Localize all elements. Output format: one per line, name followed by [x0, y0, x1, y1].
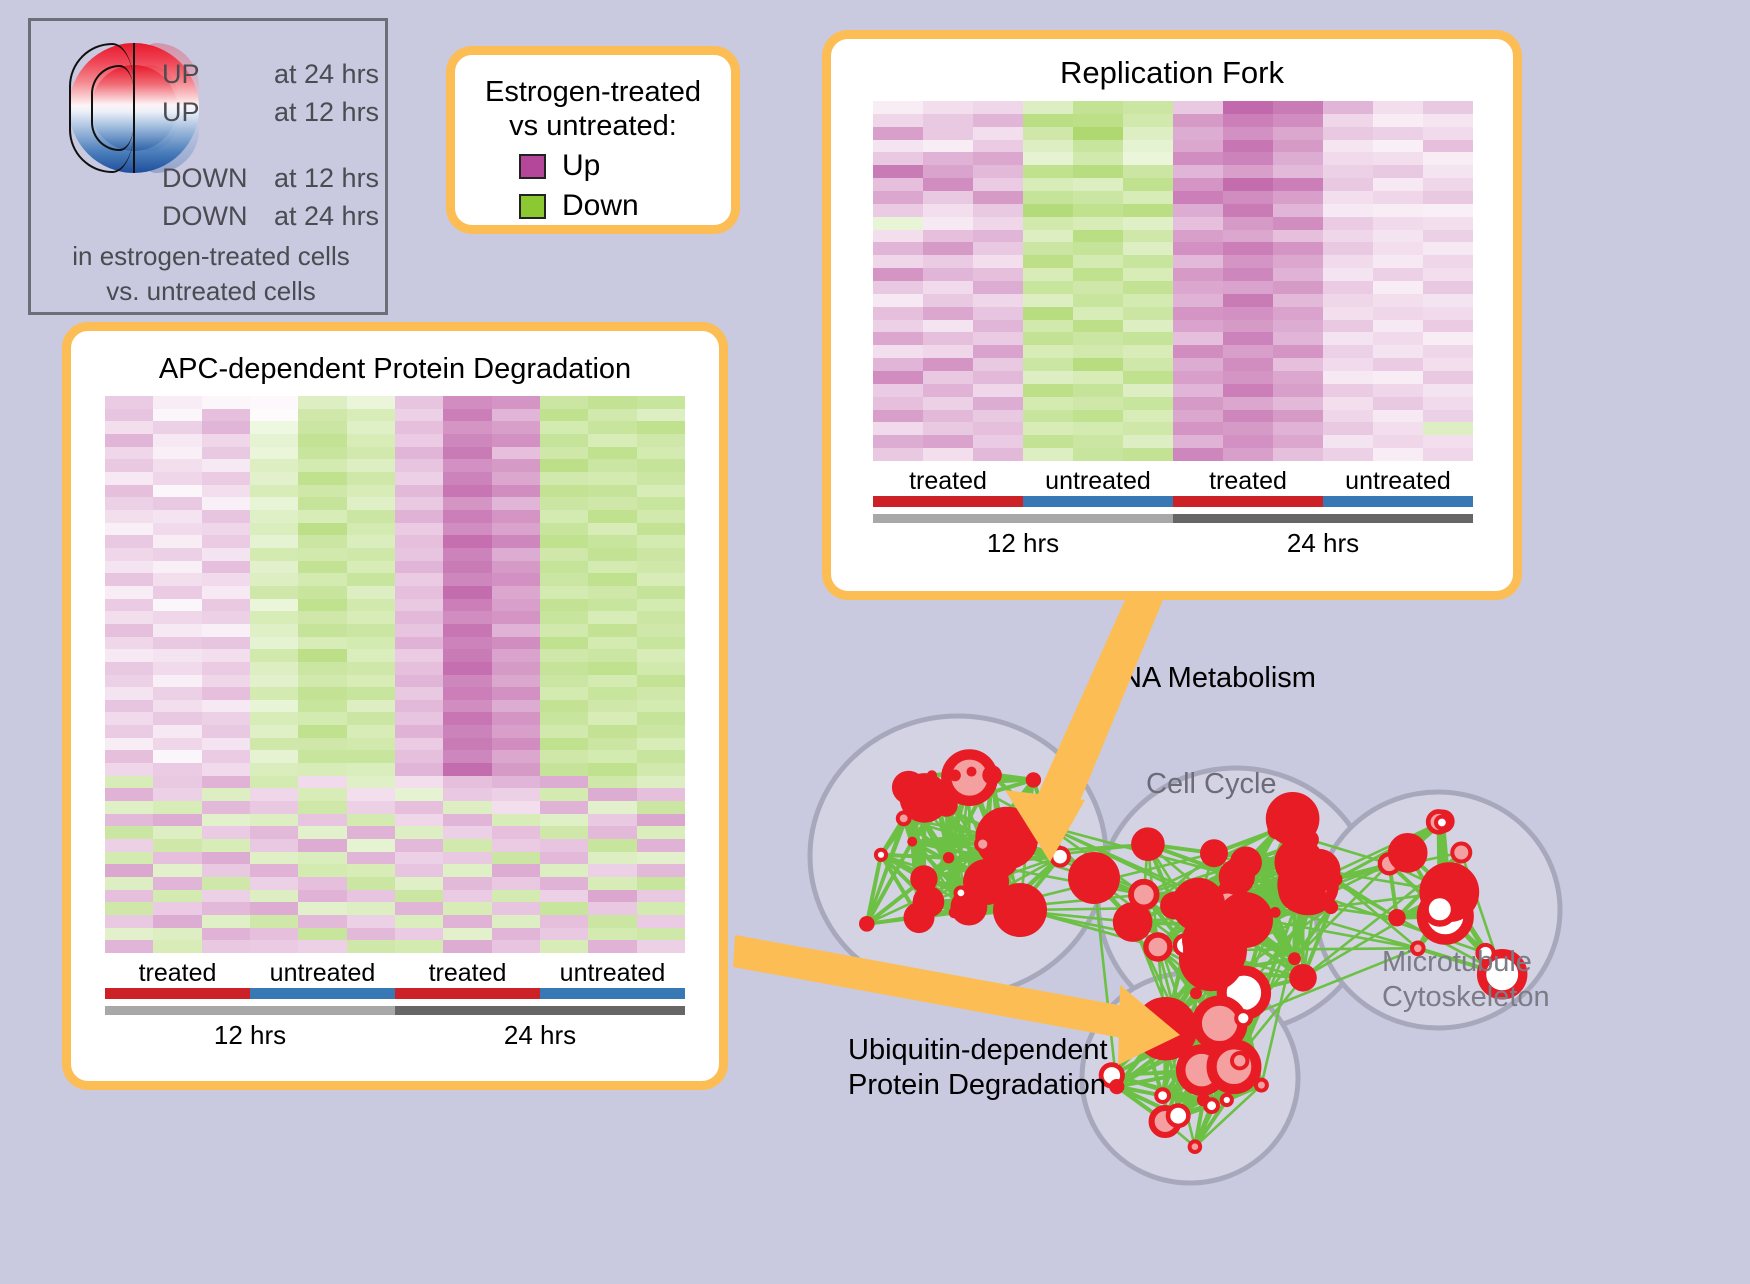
network-node[interactable]	[1200, 839, 1228, 867]
heatmap-cell	[105, 573, 153, 586]
apc-time-labels: 12 hrs24 hrs	[105, 1020, 685, 1051]
heatmap-cell	[1373, 345, 1423, 358]
wheel-time-label: at 12 hrs	[274, 163, 379, 194]
heatmap-cell	[153, 675, 201, 688]
network-node[interactable]	[1426, 895, 1454, 923]
heatmap-cell	[1373, 101, 1423, 114]
heatmap-cell	[1223, 140, 1273, 153]
heatmap-cell	[153, 852, 201, 865]
heatmap-cell	[1023, 358, 1073, 371]
heatmap-cell	[637, 535, 685, 548]
heatmap-cell	[637, 599, 685, 612]
heatmap-cell	[1223, 435, 1273, 448]
heatmap-cell	[540, 738, 588, 751]
heatmap-cell	[1373, 384, 1423, 397]
heatmap-cell	[588, 902, 636, 915]
heatmap-cell	[1373, 397, 1423, 410]
heatmap-cell	[637, 687, 685, 700]
heatmap-cell	[105, 497, 153, 510]
heatmap-cell	[923, 217, 973, 230]
network-node[interactable]	[1326, 902, 1336, 912]
heatmap-cell	[1273, 217, 1323, 230]
heatmap-cell	[298, 624, 346, 637]
heatmap-cell	[923, 204, 973, 217]
heatmap-cell	[973, 114, 1023, 127]
heatmap-cell	[1223, 127, 1273, 140]
heatmap-cell	[540, 523, 588, 536]
heatmap-cell	[637, 510, 685, 523]
heatmap-cell	[1173, 255, 1223, 268]
heatmap-cell	[1073, 152, 1123, 165]
heatmap-cell	[1123, 242, 1173, 255]
network-node[interactable]	[1205, 1099, 1218, 1112]
apc-time-bar	[105, 1006, 685, 1015]
heatmap-cell	[298, 902, 346, 915]
apc-degradation-panel: APC-dependent Protein Degradation treate…	[62, 322, 728, 1090]
network-node[interactable]	[1436, 817, 1448, 829]
heatmap-cell	[105, 409, 153, 422]
network-node[interactable]	[1182, 916, 1230, 964]
network-node[interactable]	[949, 907, 960, 918]
heatmap-cell	[443, 459, 491, 472]
heatmap-cell	[540, 915, 588, 928]
heatmap-cell	[153, 915, 201, 928]
heatmap-cell	[1323, 332, 1373, 345]
heatmap-cell	[443, 826, 491, 839]
network-node[interactable]	[1289, 964, 1317, 992]
heatmap-cell	[1323, 358, 1373, 371]
heatmap-cell	[1423, 230, 1473, 243]
heatmap-cell	[873, 101, 923, 114]
heatmap-cell	[298, 738, 346, 751]
heatmap-cell	[588, 662, 636, 675]
heatmap-cell	[1173, 178, 1223, 191]
network-node[interactable]	[1236, 1011, 1250, 1025]
heatmap-cell	[1023, 242, 1073, 255]
heatmap-cell	[923, 178, 973, 191]
heatmap-cell	[1123, 230, 1173, 243]
heatmap-cell	[1323, 165, 1373, 178]
heatmap-cell	[1073, 371, 1123, 384]
treatment-bar-segment	[1173, 496, 1323, 507]
heatmap-cell	[202, 472, 250, 485]
heatmap-cell	[540, 561, 588, 574]
time-label: 24 hrs	[395, 1020, 685, 1051]
heatmap-cell	[347, 497, 395, 510]
heatmap-cell	[492, 738, 540, 751]
heatmap-cell	[1023, 217, 1073, 230]
heatmap-cell	[637, 396, 685, 409]
heatmap-cell	[443, 877, 491, 890]
heatmap-cell	[1023, 101, 1073, 114]
heatmap-cell	[1123, 410, 1173, 423]
heatmap-cell	[1173, 435, 1223, 448]
network-node[interactable]	[967, 767, 977, 777]
heatmap-cell	[443, 447, 491, 460]
heatmap-cell	[105, 915, 153, 928]
heatmap-cell	[540, 573, 588, 586]
heatmap-cell	[395, 472, 443, 485]
expression-legend-panel: Estrogen-treated vs untreated: Up Down	[446, 46, 740, 234]
network-node[interactable]	[907, 837, 917, 847]
network-node[interactable]	[943, 852, 954, 863]
heatmap-cell	[443, 940, 491, 953]
heatmap-cell	[347, 700, 395, 713]
heatmap-cell	[202, 877, 250, 890]
heatmap-cell	[250, 864, 298, 877]
heatmap-cell	[973, 191, 1023, 204]
heatmap-cell	[395, 712, 443, 725]
heatmap-cell	[153, 814, 201, 827]
heatmap-cell	[347, 662, 395, 675]
heatmap-cell	[588, 864, 636, 877]
heatmap-cell	[1323, 101, 1373, 114]
heatmap-cell	[637, 421, 685, 434]
heatmap-cell	[105, 649, 153, 662]
heatmap-cell	[492, 776, 540, 789]
heatmap-cell	[1323, 127, 1373, 140]
wheel-direction-label: DOWN	[162, 163, 274, 194]
network-node[interactable]	[1222, 1095, 1232, 1105]
heatmap-cell	[588, 409, 636, 422]
heatmap-cell	[1073, 281, 1123, 294]
heatmap-cell	[298, 864, 346, 877]
heatmap-cell	[395, 750, 443, 763]
heatmap-cell	[637, 814, 685, 827]
heatmap-cell	[923, 332, 973, 345]
heatmap-cell	[250, 472, 298, 485]
heatmap-cell	[1273, 114, 1323, 127]
heatmap-cell	[492, 649, 540, 662]
heatmap-cell	[1023, 281, 1073, 294]
network-node[interactable]	[1135, 1022, 1146, 1033]
heatmap-cell	[1023, 410, 1073, 423]
heatmap-cell	[637, 826, 685, 839]
heatmap-cell	[250, 890, 298, 903]
heatmap-cell	[443, 801, 491, 814]
heatmap-cell	[298, 459, 346, 472]
heatmap-cell	[1373, 204, 1423, 217]
network-node[interactable]	[1452, 844, 1470, 862]
heatmap-cell	[588, 586, 636, 599]
heatmap-cell	[1123, 397, 1173, 410]
group-label: treated	[873, 467, 1023, 496]
heatmap-cell	[1023, 397, 1073, 410]
heatmap-cell	[492, 940, 540, 953]
heatmap-cell	[395, 814, 443, 827]
network-node[interactable]	[1131, 882, 1157, 908]
network-node[interactable]	[1140, 1003, 1192, 1055]
heatmap-cell	[1173, 140, 1223, 153]
heatmap-cell	[298, 535, 346, 548]
heatmap-cell	[1273, 230, 1323, 243]
heatmap-cell	[105, 940, 153, 953]
heatmap-cell	[1373, 332, 1423, 345]
heatmap-cell	[153, 485, 201, 498]
network-node[interactable]	[1170, 1009, 1182, 1021]
heatmap-cell	[540, 700, 588, 713]
heatmap-cell	[540, 637, 588, 650]
heatmap-cell	[1223, 397, 1273, 410]
network-node[interactable]	[982, 765, 1002, 785]
heatmap-cell	[1073, 178, 1123, 191]
heatmap-cell	[637, 624, 685, 637]
heatmap-cell	[540, 447, 588, 460]
network-node[interactable]	[1168, 1106, 1188, 1126]
heatmap-cell	[443, 510, 491, 523]
heatmap-cell	[1423, 152, 1473, 165]
network-node[interactable]	[1288, 952, 1301, 965]
heatmap-cell	[395, 599, 443, 612]
heatmap-cell	[540, 750, 588, 763]
heatmap-cell	[492, 801, 540, 814]
heatmap-cell	[1023, 307, 1073, 320]
heatmap-cell	[1223, 268, 1273, 281]
heatmap-cell	[298, 877, 346, 890]
heatmap-cell	[1423, 410, 1473, 423]
heatmap-cell	[1273, 435, 1323, 448]
heatmap-cell	[588, 687, 636, 700]
heatmap-cell	[1373, 358, 1423, 371]
heatmap-cell	[873, 127, 923, 140]
heatmap-cell	[395, 523, 443, 536]
heatmap-cell	[1273, 358, 1323, 371]
heatmap-cell	[250, 611, 298, 624]
heatmap-cell	[298, 447, 346, 460]
heatmap-cell	[923, 114, 973, 127]
heatmap-cell	[1073, 140, 1123, 153]
heatmap-cell	[973, 127, 1023, 140]
network-node[interactable]	[1032, 811, 1064, 843]
network-node[interactable]	[1275, 838, 1324, 887]
heatmap-cell	[973, 178, 1023, 191]
heatmap-cell	[443, 839, 491, 852]
heatmap-cell	[347, 637, 395, 650]
heatmap-cell	[923, 397, 973, 410]
heatmap-cell	[153, 687, 201, 700]
heatmap-cell	[298, 611, 346, 624]
heatmap-cell	[153, 801, 201, 814]
heatmap-cell	[873, 140, 923, 153]
heatmap-cell	[347, 915, 395, 928]
heatmap-cell	[1323, 255, 1373, 268]
network-node[interactable]	[1160, 892, 1187, 919]
heatmap-cell	[1323, 230, 1373, 243]
heatmap-cell	[540, 421, 588, 434]
heatmap-cell	[1223, 152, 1273, 165]
heatmap-cell	[923, 358, 973, 371]
heatmap-cell	[1223, 114, 1273, 127]
heatmap-cell	[540, 826, 588, 839]
heatmap-cell	[298, 826, 346, 839]
heatmap-cell	[588, 801, 636, 814]
network-node[interactable]	[1176, 1032, 1186, 1042]
heatmap-cell	[492, 700, 540, 713]
network-node[interactable]	[1026, 772, 1041, 787]
heatmap-cell	[105, 624, 153, 637]
network-node[interactable]	[1222, 862, 1252, 892]
heatmap-cell	[153, 497, 201, 510]
network-node[interactable]	[976, 838, 989, 851]
heatmap-cell	[1223, 242, 1273, 255]
heatmap-cell	[1273, 448, 1323, 461]
heatmap-cell	[588, 788, 636, 801]
heatmap-cell	[443, 561, 491, 574]
heatmap-cell	[973, 345, 1023, 358]
heatmap-cell	[1023, 230, 1073, 243]
network-node[interactable]	[949, 770, 961, 782]
heatmap-cell	[298, 497, 346, 510]
heatmap-cell	[1323, 242, 1373, 255]
heatmap-cell	[298, 852, 346, 865]
heatmap-cell	[588, 510, 636, 523]
heatmap-cell	[1273, 384, 1323, 397]
heatmap-cell	[1373, 371, 1423, 384]
heatmap-cell	[347, 396, 395, 409]
heatmap-cell	[443, 776, 491, 789]
heatmap-cell	[873, 268, 923, 281]
heatmap-cell	[153, 700, 201, 713]
heatmap-cell	[1223, 358, 1273, 371]
network-node[interactable]	[1111, 1081, 1122, 1092]
heatmap-cell	[1123, 191, 1173, 204]
heatmap-cell	[443, 852, 491, 865]
heatmap-cell	[1173, 230, 1223, 243]
heatmap-cell	[105, 763, 153, 776]
heatmap-cell	[202, 839, 250, 852]
heatmap-cell	[1023, 268, 1073, 281]
network-node[interactable]	[1390, 911, 1403, 924]
heatmap-cell	[973, 204, 1023, 217]
group-label: treated	[1173, 467, 1323, 496]
heatmap-cell	[395, 535, 443, 548]
heatmap-cell	[1223, 410, 1273, 423]
heatmap-cell	[443, 409, 491, 422]
heatmap-cell	[298, 814, 346, 827]
heatmap-cell	[637, 915, 685, 928]
heatmap-cell	[105, 447, 153, 460]
heatmap-cell	[1073, 448, 1123, 461]
heatmap-cell	[443, 763, 491, 776]
network-node[interactable]	[1256, 1080, 1267, 1091]
network-node[interactable]	[1190, 987, 1202, 999]
heatmap-cell	[1073, 165, 1123, 178]
heatmap-cell	[492, 624, 540, 637]
network-node[interactable]	[935, 795, 957, 817]
heatmap-cell	[347, 738, 395, 751]
network-node[interactable]	[859, 916, 875, 932]
heatmap-cell	[1423, 307, 1473, 320]
heatmap-cell	[1373, 281, 1423, 294]
heatmap-cell	[1273, 178, 1323, 191]
apc-degradation-title: APC-dependent Protein Degradation	[71, 353, 719, 386]
heatmap-cell	[250, 776, 298, 789]
heatmap-cell	[395, 852, 443, 865]
heatmap-cell	[1323, 191, 1373, 204]
wheel-legend-row: UPat 24 hrs	[162, 59, 379, 90]
heatmap-cell	[1423, 204, 1473, 217]
heatmap-cell	[973, 448, 1023, 461]
heatmap-cell	[202, 396, 250, 409]
heatmap-cell	[540, 852, 588, 865]
heatmap-cell	[540, 611, 588, 624]
heatmap-cell	[1373, 268, 1423, 281]
heatmap-cell	[873, 320, 923, 333]
heatmap-cell	[202, 497, 250, 510]
heatmap-cell	[1373, 178, 1423, 191]
heatmap-cell	[202, 421, 250, 434]
heatmap-cell	[1423, 127, 1473, 140]
network-node[interactable]	[963, 859, 1009, 905]
heatmap-cell	[1023, 140, 1073, 153]
heatmap-cell	[637, 523, 685, 536]
heatmap-cell	[298, 396, 346, 409]
heatmap-cell	[105, 890, 153, 903]
network-node[interactable]	[1190, 1141, 1201, 1152]
heatmap-cell	[250, 801, 298, 814]
network-node[interactable]	[1392, 837, 1424, 869]
heatmap-cell	[923, 435, 973, 448]
network-node[interactable]	[1156, 1089, 1169, 1102]
network-node[interactable]	[1232, 1053, 1247, 1068]
network-node[interactable]	[876, 850, 886, 860]
network-node[interactable]	[1146, 935, 1170, 959]
heatmap-cell	[1323, 140, 1373, 153]
heatmap-cell	[1073, 397, 1123, 410]
heatmap-cell	[637, 459, 685, 472]
heatmap-cell	[153, 826, 201, 839]
treatment-bar-segment	[540, 988, 685, 999]
heatmap-cell	[250, 700, 298, 713]
heatmap-cell	[588, 852, 636, 865]
heatmap-cell	[153, 421, 201, 434]
heatmap-cell	[250, 675, 298, 688]
heatmap-cell	[105, 928, 153, 941]
pathway-network-diagram: DNA Metabolism Cell Cycle Microtubule Cy…	[790, 620, 1750, 1279]
heatmap-cell	[873, 371, 923, 384]
network-node[interactable]	[1051, 848, 1069, 866]
wheel-divider	[133, 43, 135, 173]
heatmap-cell	[250, 662, 298, 675]
heatmap-cell	[1323, 371, 1373, 384]
network-node[interactable]	[1131, 827, 1165, 861]
heatmap-cell	[153, 396, 201, 409]
heatmap-cell	[250, 712, 298, 725]
heatmap-cell	[492, 561, 540, 574]
network-node[interactable]	[910, 865, 937, 892]
cluster-label-ubiquitin: Ubiquitin-dependent Protein Degradation	[848, 1033, 1108, 1103]
heatmap-cell	[395, 409, 443, 422]
heatmap-cell	[347, 712, 395, 725]
heatmap-cell	[1273, 371, 1323, 384]
heatmap-cell	[1223, 255, 1273, 268]
heatmap-cell	[540, 902, 588, 915]
heatmap-cell	[1223, 165, 1273, 178]
heatmap-cell	[1423, 101, 1473, 114]
heatmap-cell	[923, 448, 973, 461]
group-label: treated	[395, 959, 540, 988]
heatmap-cell	[347, 864, 395, 877]
heatmap-cell	[1023, 320, 1073, 333]
heatmap-cell	[1173, 127, 1223, 140]
heatmap-cell	[1073, 101, 1123, 114]
heatmap-cell	[1223, 332, 1273, 345]
heatmap-cell	[1123, 140, 1173, 153]
heatmap-cell	[443, 687, 491, 700]
network-node[interactable]	[1068, 852, 1120, 904]
heatmap-cell	[105, 485, 153, 498]
heatmap-cell	[588, 421, 636, 434]
